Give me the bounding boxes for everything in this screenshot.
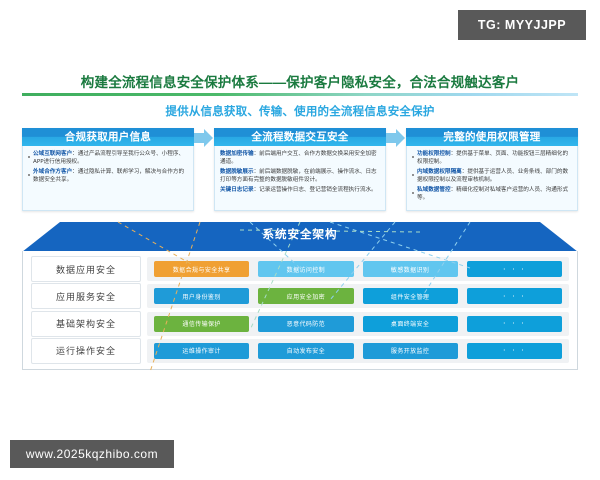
bullet-item: 公域互联网客户：通过产品流程引导至我行公众号、小程序、APP进行信用授权。 — [28, 151, 188, 166]
bullet-text: 公域互联网客户：通过产品流程引导至我行公众号、小程序、APP进行信用授权。 — [33, 151, 188, 166]
row-label-operation-security: 运行操作安全 — [31, 338, 141, 364]
header-block: 构建全流程信息安全保护体系——保护客户隐私安全，合法合规触达客户 提供从信息获取… — [0, 74, 600, 119]
bullet-text: 私域数据管控：精细化控制对私域客户运营的人员、沟通形式等。 — [417, 187, 572, 202]
arrow-1-to-2 — [194, 128, 214, 220]
bullet-dot-icon — [28, 174, 30, 176]
pill-item[interactable]: 数据合规与安全共享 — [154, 261, 249, 277]
row-label-data-application-security: 数据应用安全 — [31, 256, 141, 282]
architecture-rows: 数据应用安全 数据合规与安全共享 数据访问控制 敏感数据识别 · · · 应用服… — [22, 251, 578, 370]
bullet-text: 数据脱敏展示：前后端数据脱敏，在前端展示、操作流水、日志打印等方面有完整的数据脱… — [220, 169, 380, 184]
arrow-2-to-3 — [386, 128, 406, 220]
page-subtitle: 提供从信息获取、传输、使用的全流程信息安全保护 — [0, 103, 600, 119]
row-pill-group: 通信传输保护 恶意代码防范 桌面终端安全 · · · — [147, 312, 569, 336]
architecture-row: 应用服务安全 用户身份鉴别 应用安全加密 组件安全管理 · · · — [31, 284, 569, 308]
architecture-row: 基础架构安全 通信传输保护 恶意代码防范 桌面终端安全 · · · — [31, 312, 569, 336]
bullet-text: 外域合作方客户：通过隐私计算、联邦学习，解决与合作方的数据安全共享。 — [33, 169, 188, 184]
pill-item[interactable]: 桌面终端安全 — [363, 316, 458, 332]
pillar-heading-1: 合规获取用户信息 — [22, 128, 194, 146]
pill-item[interactable]: 恶意代码防范 — [258, 316, 353, 332]
bullet-item: 关键日志记录：记录运营操作日志、登记营销全流程执行流水。 — [220, 187, 380, 195]
bullet-text: 功能权限控制：提供基于菜单、页面、功能按钮三层精细化的权限控制。 — [417, 151, 572, 166]
pillar-body-1: 公域互联网客户：通过产品流程引导至我行公众号、小程序、APP进行信用授权。 外域… — [22, 146, 194, 211]
pill-item[interactable]: 用户身份鉴别 — [154, 288, 249, 304]
bullet-item: 私域数据管控：精细化控制对私域客户运营的人员、沟通形式等。 — [412, 187, 572, 202]
architecture-row: 数据应用安全 数据合规与安全共享 数据访问控制 敏感数据识别 · · · — [31, 257, 569, 281]
title-underline-rule — [22, 93, 578, 96]
pill-item[interactable]: 自动发布安全 — [258, 343, 353, 359]
row-pill-group: 数据合规与安全共享 数据访问控制 敏感数据识别 · · · — [147, 257, 569, 281]
watermark-top-right: TG: MYYJJPP — [458, 10, 586, 40]
pill-item[interactable]: 应用安全加密 — [258, 288, 353, 304]
bullet-text: 数据加密传输：前后端用户交互、合作方数据交换采用安全加密通道。 — [220, 151, 380, 166]
bullet-text: 内域数据权限隔离：提供基于运营人员、业务条线、部门的数据权限控制以及流程审核机制… — [417, 169, 572, 184]
architecture-row: 运行操作安全 运维操作审计 自动发布安全 服务开放监控 · · · — [31, 339, 569, 363]
pillar-card-2: 全流程数据交互安全 数据加密传输：前后端用户交互、合作方数据交换采用安全加密通道… — [214, 128, 386, 211]
pill-item[interactable]: 服务开放监控 — [363, 343, 458, 359]
row-pill-group: 运维操作审计 自动发布安全 服务开放监控 · · · — [147, 339, 569, 363]
pill-item-more[interactable]: · · · — [467, 261, 562, 277]
bullet-text: 关键日志记录：记录运营操作日志、登记营销全流程执行流水。 — [220, 187, 377, 195]
pillar-columns: 合规获取用户信息 公域互联网客户：通过产品流程引导至我行公众号、小程序、APP进… — [22, 128, 578, 220]
bullet-item: 数据脱敏展示：前后端数据脱敏，在前端展示、操作流水、日志打印等方面有完整的数据脱… — [220, 169, 380, 184]
architecture-roof-label: 系统安全架构 — [22, 226, 578, 242]
row-label-application-service-security: 应用服务安全 — [31, 283, 141, 309]
pillar-body-2: 数据加密传输：前后端用户交互、合作方数据交换采用安全加密通道。 数据脱敏展示：前… — [214, 146, 386, 211]
pill-item[interactable]: 敏感数据识别 — [363, 261, 458, 277]
bullet-item: 外域合作方客户：通过隐私计算、联邦学习，解决与合作方的数据安全共享。 — [28, 169, 188, 184]
pillar-card-3: 完整的使用权限管理 功能权限控制：提供基于菜单、页面、功能按钮三层精细化的权限控… — [406, 128, 578, 211]
bullet-dot-icon — [412, 156, 414, 158]
bullet-dot-icon — [412, 174, 414, 176]
pill-item-more[interactable]: · · · — [467, 288, 562, 304]
pill-item[interactable]: 数据访问控制 — [258, 261, 353, 277]
bullet-dot-icon — [28, 156, 30, 158]
bullet-item: 内域数据权限隔离：提供基于运营人员、业务条线、部门的数据权限控制以及流程审核机制… — [412, 169, 572, 184]
pill-item[interactable]: 组件安全管理 — [363, 288, 458, 304]
architecture-block: 系统安全架构 数据应用安全 数据合规与安全共享 数据访问控制 敏感数据识别 · … — [22, 222, 578, 370]
row-label-infrastructure-security: 基础架构安全 — [31, 311, 141, 337]
bullet-dot-icon — [412, 192, 414, 194]
pill-item-more[interactable]: · · · — [467, 343, 562, 359]
pillar-heading-2: 全流程数据交互安全 — [214, 128, 386, 146]
pill-item[interactable]: 通信传输保护 — [154, 316, 249, 332]
watermark-bottom-left: www.2025kqzhibo.com — [10, 440, 174, 468]
pill-item[interactable]: 运维操作审计 — [154, 343, 249, 359]
bullet-item: 功能权限控制：提供基于菜单、页面、功能按钮三层精细化的权限控制。 — [412, 151, 572, 166]
page-title: 构建全流程信息安全保护体系——保护客户隐私安全，合法合规触达客户 — [0, 74, 600, 91]
pillar-body-3: 功能权限控制：提供基于菜单、页面、功能按钮三层精细化的权限控制。 内域数据权限隔… — [406, 146, 578, 211]
pillar-card-1: 合规获取用户信息 公域互联网客户：通过产品流程引导至我行公众号、小程序、APP进… — [22, 128, 194, 211]
row-pill-group: 用户身份鉴别 应用安全加密 组件安全管理 · · · — [147, 284, 569, 308]
pill-item-more[interactable]: · · · — [467, 316, 562, 332]
bullet-item: 数据加密传输：前后端用户交互、合作方数据交换采用安全加密通道。 — [220, 151, 380, 166]
pillar-heading-3: 完整的使用权限管理 — [406, 128, 578, 146]
